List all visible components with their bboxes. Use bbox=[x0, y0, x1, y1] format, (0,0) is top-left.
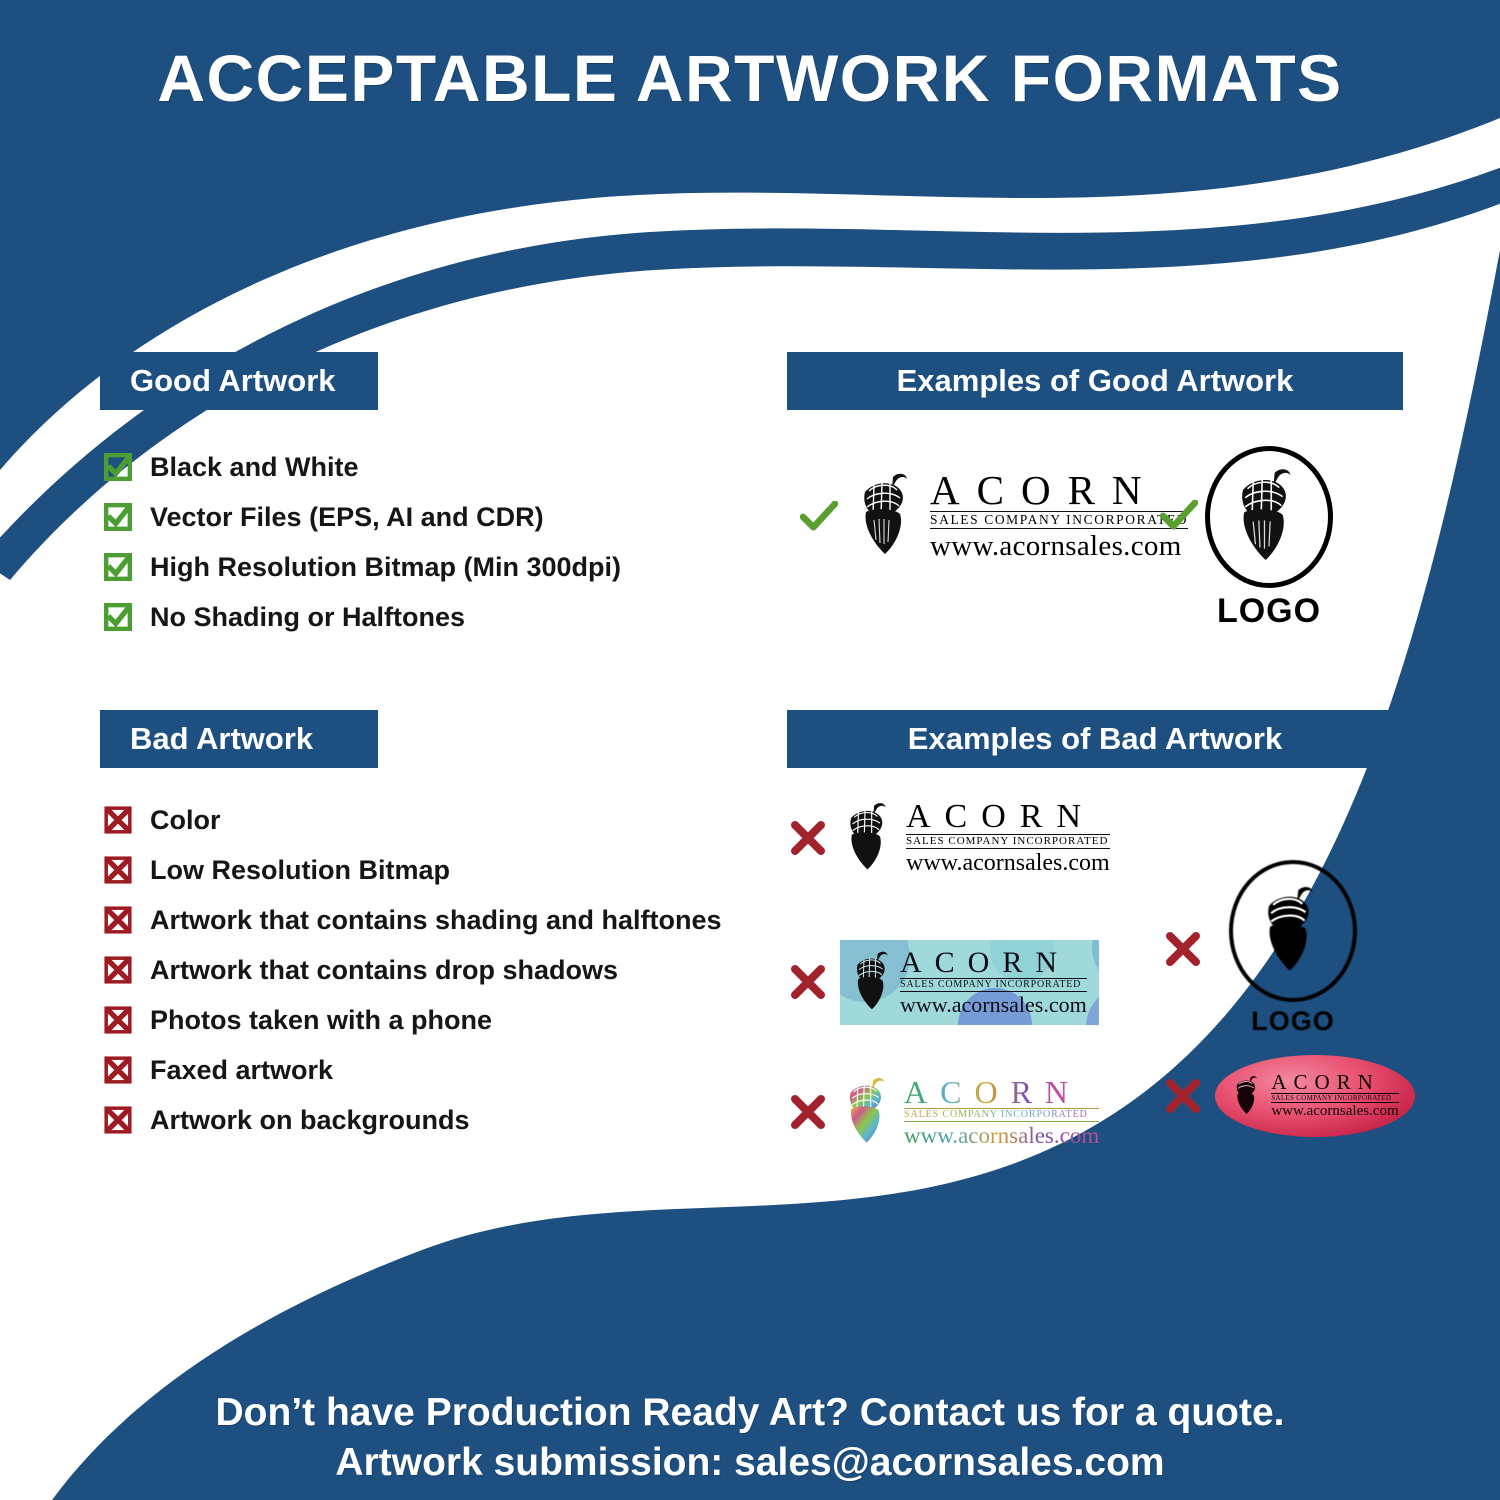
acorn-subline: SALES COMPANY INCORPORATED bbox=[1271, 1093, 1398, 1103]
banner-bad-artwork: Bad Artwork bbox=[100, 710, 378, 768]
cross-box-icon bbox=[104, 806, 132, 834]
list-item: Photos taken with a phone bbox=[104, 995, 722, 1045]
green-check-icon bbox=[1160, 500, 1198, 530]
banner-bad-artwork-label: Bad Artwork bbox=[130, 721, 313, 757]
acorn-icon bbox=[840, 800, 900, 876]
good-artwork-list: Black and White Vector Files (EPS, AI an… bbox=[104, 442, 621, 642]
acorn-logo-lockup: ACORN SALES COMPANY INCORPORATED www.aco… bbox=[852, 470, 1188, 563]
acorn-subline: SALES COMPANY INCORPORATED bbox=[904, 1108, 1099, 1122]
footer-line-1: Don’t have Production Ready Art? Contact… bbox=[0, 1388, 1500, 1438]
logo-badge-label: LOGO bbox=[1251, 1006, 1335, 1037]
bad-artwork-list: Color Low Resolution Bitmap Artwork that… bbox=[104, 795, 722, 1145]
acorn-wordmark-stack: ACORN SALES COMPANY INCORPORATED www.aco… bbox=[900, 948, 1087, 1017]
cross-box-icon bbox=[104, 956, 132, 984]
acorn-icon bbox=[1255, 883, 1331, 979]
example-bad-lockup: ACORN SALES COMPANY INCORPORATED www.aco… bbox=[790, 800, 1110, 876]
red-x-icon bbox=[1165, 931, 1201, 967]
list-item-label: Photos taken with a phone bbox=[150, 1005, 492, 1036]
example-bad-patterned-background: ACORN SALES COMPANY INCORPORATED www.aco… bbox=[790, 940, 1099, 1025]
banner-examples-bad-artwork: Examples of Bad Artwork bbox=[787, 710, 1403, 768]
list-item-label: Black and White bbox=[150, 452, 359, 483]
acorn-wordmark: ACORN bbox=[906, 800, 1110, 834]
acorn-logo-lockup: ACORN SALES COMPANY INCORPORATED www.aco… bbox=[840, 800, 1110, 876]
check-box-icon bbox=[104, 453, 132, 481]
acorn-icon bbox=[848, 949, 900, 1015]
list-item-label: Faxed artwork bbox=[150, 1055, 333, 1086]
acorn-wordmark: ACORN bbox=[930, 470, 1188, 511]
list-item-label: Low Resolution Bitmap bbox=[150, 855, 450, 886]
list-item-label: High Resolution Bitmap (Min 300dpi) bbox=[150, 552, 621, 583]
page-title: ACCEPTABLE ARTWORK FORMATS bbox=[0, 40, 1500, 116]
acorn-url: www.acornsales.com bbox=[1271, 1103, 1398, 1120]
check-box-icon bbox=[104, 503, 132, 531]
acorn-icon bbox=[1231, 1074, 1265, 1118]
list-item: Vector Files (EPS, AI and CDR) bbox=[104, 492, 621, 542]
banner-good-artwork-label: Good Artwork bbox=[130, 363, 336, 399]
acorn-wordmark-stack: ACORN SALES COMPANY INCORPORATED www.aco… bbox=[904, 1076, 1099, 1148]
list-item: Artwork that contains drop shadows bbox=[104, 945, 722, 995]
content-area: Good Artwork Bad Artwork Examples of Goo… bbox=[0, 0, 1500, 1500]
lowres-circle-badge: LOGO bbox=[1229, 860, 1357, 1037]
footer-contact: Don’t have Production Ready Art? Contact… bbox=[0, 1388, 1500, 1488]
banner-examples-good-label: Examples of Good Artwork bbox=[897, 363, 1294, 399]
background-blob bbox=[1086, 986, 1099, 1025]
list-item: Color bbox=[104, 795, 722, 845]
patterned-background-panel: ACORN SALES COMPANY INCORPORATED www.aco… bbox=[840, 940, 1099, 1025]
red-x-icon bbox=[1165, 1078, 1201, 1114]
infographic-page: ACCEPTABLE ARTWORK FORMATS Good Artwork … bbox=[0, 0, 1500, 1500]
logo-badge-label: LOGO bbox=[1217, 592, 1321, 631]
acorn-wordmark-stack: ACORN SALES COMPANY INCORPORATED www.aco… bbox=[1271, 1072, 1398, 1120]
acorn-wordmark-stack: ACORN SALES COMPANY INCORPORATED www.aco… bbox=[906, 800, 1110, 876]
banner-good-artwork: Good Artwork bbox=[100, 352, 378, 410]
example-bad-color-lockup: ACORN SALES COMPANY INCORPORATED www.aco… bbox=[790, 1075, 1099, 1149]
acorn-icon bbox=[852, 470, 924, 562]
list-item: Faxed artwork bbox=[104, 1045, 722, 1095]
acorn-url: www.acornsales.com bbox=[930, 531, 1188, 563]
list-item-label: Vector Files (EPS, AI and CDR) bbox=[150, 502, 544, 533]
acorn-subline: SALES COMPANY INCORPORATED bbox=[930, 511, 1188, 529]
logo-circle-outline bbox=[1229, 860, 1357, 1002]
acorn-subline: SALES COMPANY INCORPORATED bbox=[906, 834, 1110, 849]
list-item: No Shading or Halftones bbox=[104, 592, 621, 642]
acorn-icon bbox=[1227, 465, 1311, 569]
cross-box-icon bbox=[104, 1006, 132, 1034]
red-x-icon bbox=[790, 964, 826, 1000]
acorn-wordmark-stack: ACORN SALES COMPANY INCORPORATED www.aco… bbox=[930, 470, 1188, 563]
cross-box-icon bbox=[104, 856, 132, 884]
example-good-circle-badge: LOGO bbox=[1205, 446, 1333, 631]
acorn-logo-lockup: ACORN SALES COMPANY INCORPORATED www.aco… bbox=[1231, 1072, 1398, 1120]
check-box-icon bbox=[104, 553, 132, 581]
acorn-icon bbox=[840, 1075, 898, 1149]
acorn-wordmark: ACORN bbox=[904, 1076, 1099, 1108]
example-bad-lowres-badge: LOGO bbox=[1165, 860, 1357, 1037]
cross-box-icon bbox=[104, 906, 132, 934]
cross-box-icon bbox=[104, 1106, 132, 1134]
cross-box-icon bbox=[104, 1056, 132, 1084]
list-item: Artwork on backgrounds bbox=[104, 1095, 722, 1145]
acorn-wordmark: ACORN bbox=[1271, 1072, 1398, 1093]
acorn-url: www.acornsales.com bbox=[906, 850, 1110, 876]
example-good-lockup: ACORN SALES COMPANY INCORPORATED www.aco… bbox=[800, 470, 1188, 563]
acorn-subline: SALES COMPANY INCORPORATED bbox=[900, 978, 1087, 992]
red-x-icon bbox=[790, 1094, 826, 1130]
list-item-label: Artwork on backgrounds bbox=[150, 1105, 470, 1136]
acorn-wordmark: ACORN bbox=[900, 948, 1087, 978]
list-item: Low Resolution Bitmap bbox=[104, 845, 722, 895]
acorn-url: www.acornsales.com bbox=[900, 993, 1087, 1017]
example-bad-oval-badge: ACORN SALES COMPANY INCORPORATED www.aco… bbox=[1165, 1055, 1415, 1137]
check-box-icon bbox=[104, 603, 132, 631]
background-blob bbox=[1092, 940, 1099, 984]
banner-examples-bad-label: Examples of Bad Artwork bbox=[908, 721, 1282, 757]
list-item-label: Artwork that contains shading and halfto… bbox=[150, 905, 722, 936]
list-item: High Resolution Bitmap (Min 300dpi) bbox=[104, 542, 621, 592]
green-check-icon bbox=[800, 501, 838, 531]
oval-color-badge: ACORN SALES COMPANY INCORPORATED www.aco… bbox=[1215, 1055, 1415, 1137]
banner-examples-good-artwork: Examples of Good Artwork bbox=[787, 352, 1403, 410]
acorn-logo-lockup: ACORN SALES COMPANY INCORPORATED www.aco… bbox=[840, 1075, 1099, 1149]
acorn-url: www.acornsales.com bbox=[904, 1123, 1099, 1148]
list-item-label: Artwork that contains drop shadows bbox=[150, 955, 618, 986]
footer-line-2: Artwork submission: sales@acornsales.com bbox=[0, 1438, 1500, 1488]
list-item: Black and White bbox=[104, 442, 621, 492]
list-item-label: No Shading or Halftones bbox=[150, 602, 465, 633]
list-item: Artwork that contains shading and halfto… bbox=[104, 895, 722, 945]
list-item-label: Color bbox=[150, 805, 221, 836]
red-x-icon bbox=[790, 820, 826, 856]
logo-circle-outline bbox=[1205, 446, 1333, 588]
